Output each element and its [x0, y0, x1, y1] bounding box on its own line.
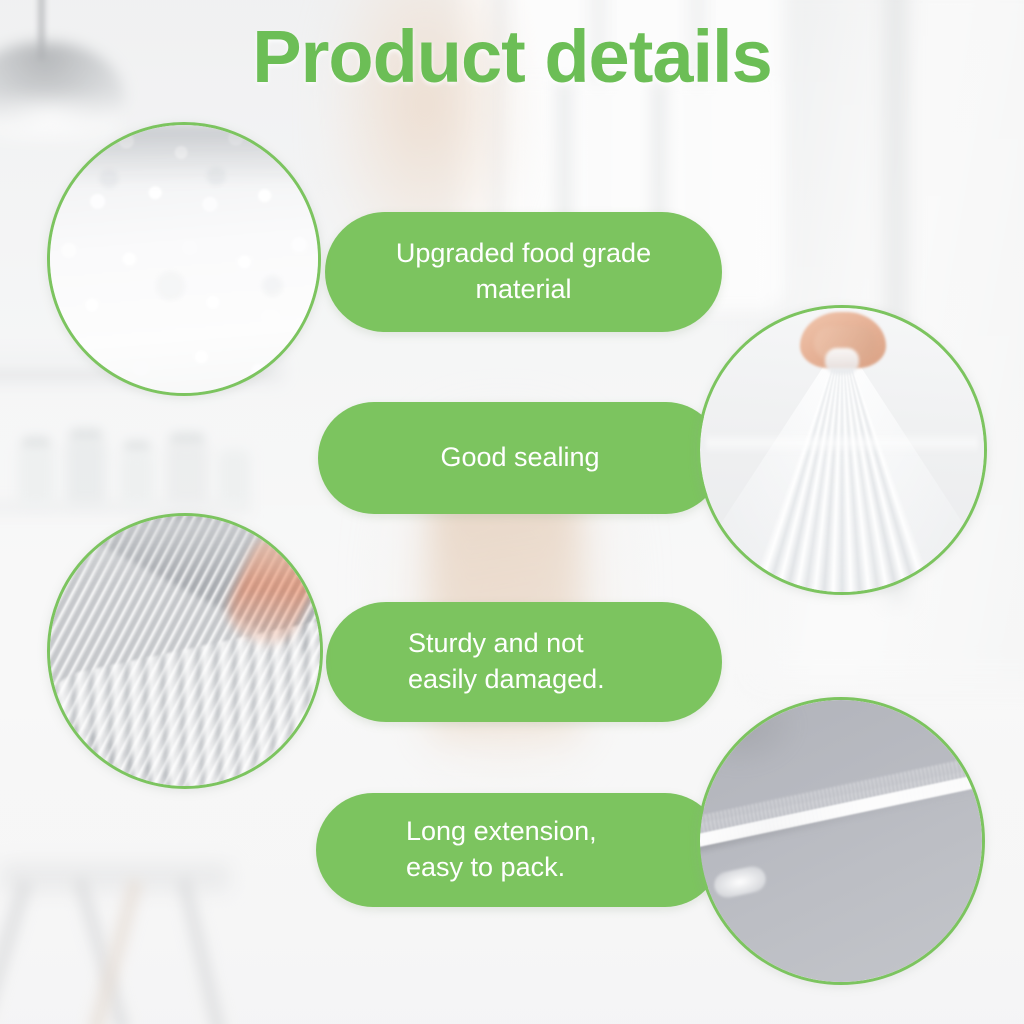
bag-sheen: [706, 432, 978, 454]
feature-label: Sturdy and not easily damaged.: [326, 626, 722, 697]
film-top-haze: [50, 516, 320, 586]
strand-corner-haze: [700, 700, 800, 770]
feature-pill-good-sealing: Good sealing: [318, 402, 722, 514]
feature-label: Good sealing: [414, 440, 625, 476]
photo-inner: [700, 308, 984, 592]
product-details-infographic: Product details Upgraded food grade mate…: [0, 0, 1024, 1024]
photo-inner: [700, 700, 982, 982]
bag-grip: [825, 348, 859, 374]
feature-label: Upgraded food grade material: [370, 236, 677, 307]
feature-label: Long extension, easy to pack.: [316, 814, 722, 885]
feature-pill-sturdy: Sturdy and not easily damaged.: [326, 602, 722, 722]
pellets-shadow: [50, 125, 318, 185]
feature-pill-upgraded-material: Upgraded food grade material: [325, 212, 722, 332]
stretched-film-photo: [47, 513, 323, 789]
plastic-pellets-photo: [47, 122, 321, 396]
hand-holding-bag-photo: [697, 305, 987, 595]
feature-pill-long-extension: Long extension, easy to pack.: [316, 793, 722, 907]
extended-strand-photo: [697, 697, 985, 985]
page-title: Product details: [0, 14, 1024, 99]
photo-inner: [50, 516, 320, 786]
photo-inner: [50, 125, 318, 393]
